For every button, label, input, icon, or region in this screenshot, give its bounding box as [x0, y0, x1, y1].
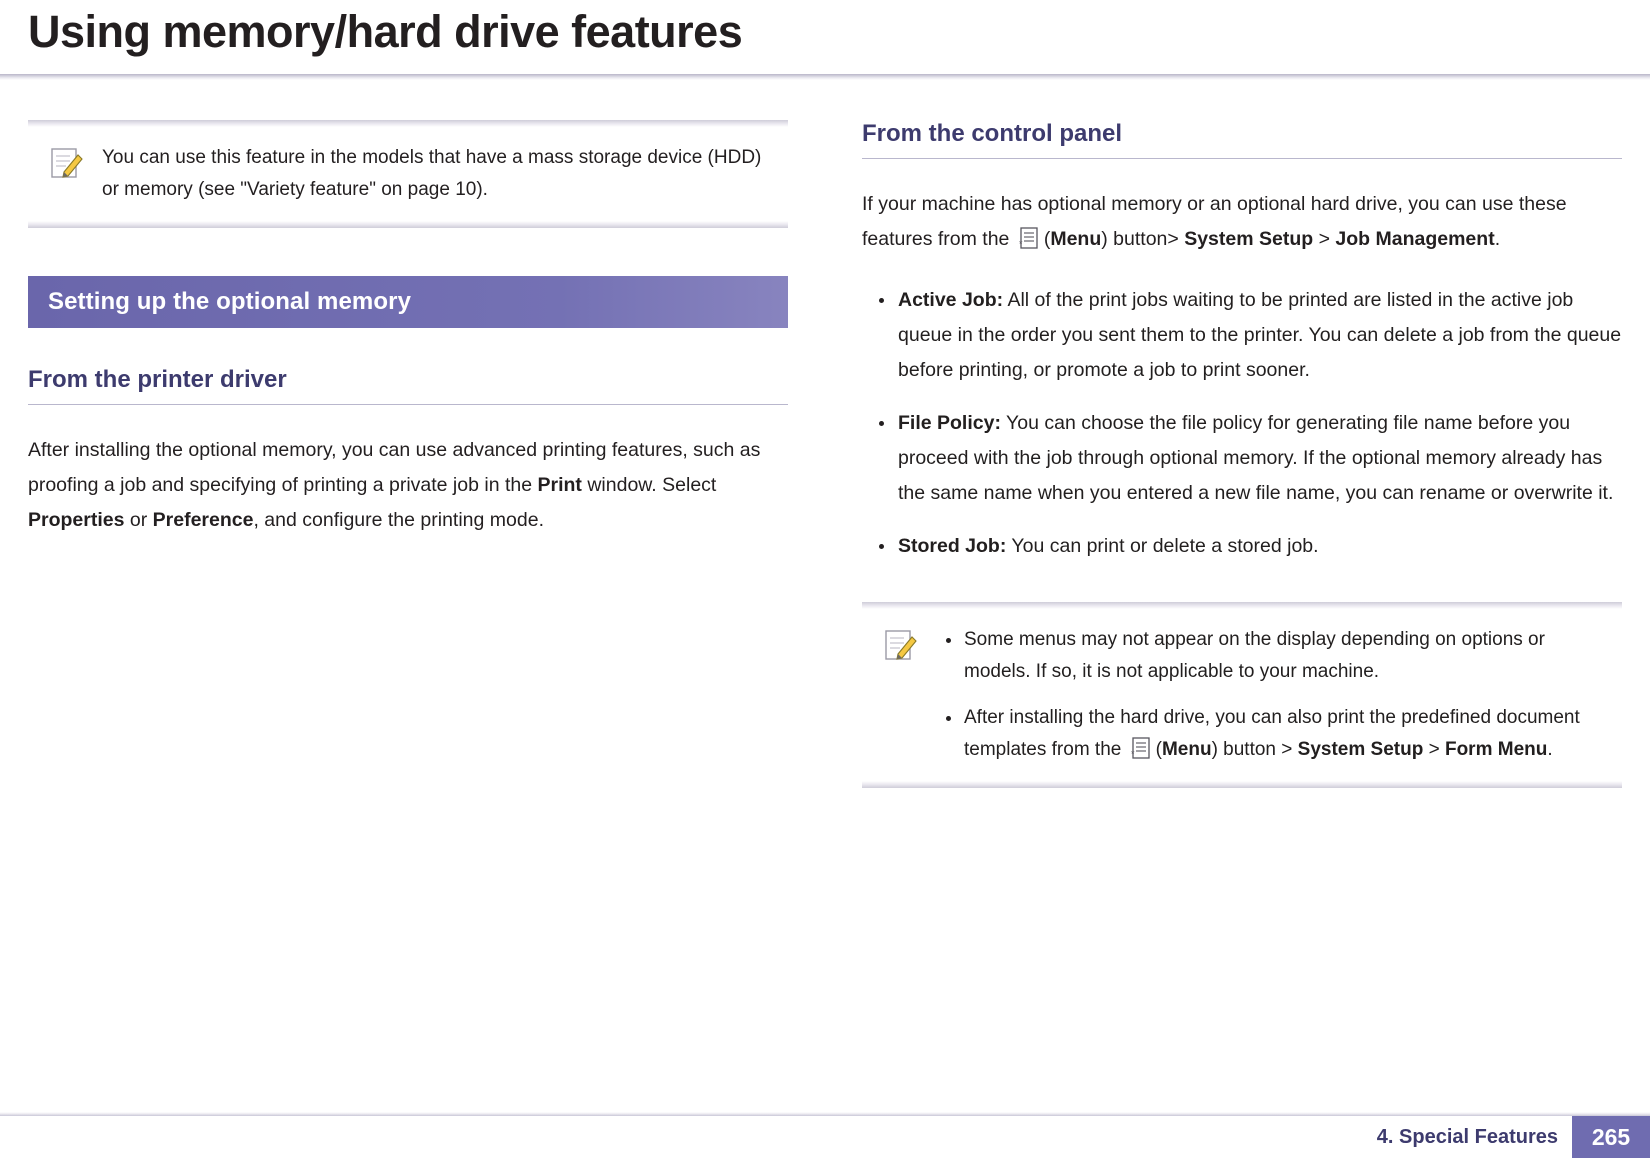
note-bullet-menus-availability: Some menus may not appear on the display…	[936, 624, 1612, 688]
right-column: From the control panel If your machine h…	[862, 120, 1622, 788]
bullet-active-job: Active Job: All of the print jobs waitin…	[862, 283, 1622, 388]
footer-chapter-label: 4. Special Features	[1377, 1126, 1558, 1149]
document-page: Using memory/hard drive features You can…	[0, 0, 1650, 1158]
paragraph-printer-driver: After installing the optional memory, yo…	[28, 433, 788, 538]
note-top-divider-2	[862, 602, 1622, 609]
note-bullet2-text-2: button >	[1218, 739, 1298, 760]
page-footer: 4. Special Features 265	[0, 1116, 1650, 1158]
bold-preference: Preference	[153, 509, 254, 531]
svg-text:*: *	[1019, 239, 1023, 249]
page-title: Using memory/hard drive features	[28, 6, 742, 58]
bullet-label-active-job: Active Job:	[898, 289, 1003, 311]
bold-system-setup: System Setup	[1184, 228, 1313, 250]
svg-text:*: *	[1131, 749, 1135, 759]
bullet-label-file-policy: File Policy:	[898, 412, 1001, 434]
note-pencil-icon	[884, 628, 918, 662]
bullet-label-stored-job: Stored Job:	[898, 535, 1006, 557]
bold-print: Print	[538, 474, 582, 496]
subheading-control-panel: From the control panel	[862, 120, 1622, 159]
note-bullet2-text-3: >	[1423, 739, 1445, 760]
bullet-text-active-job: All of the print jobs waiting to be prin…	[898, 289, 1621, 381]
title-divider	[0, 74, 1650, 80]
intro-text-4: .	[1495, 228, 1500, 250]
band-heading-label: Setting up the optional memory	[28, 288, 411, 316]
note-bottom-divider	[28, 221, 788, 228]
intro-text-3: >	[1313, 228, 1335, 250]
footer-page-number: 265	[1572, 1116, 1650, 1158]
bullet-text-stored-job: You can print or delete a stored job.	[1006, 535, 1318, 557]
note-box-menu-availability: Some menus may not appear on the display…	[862, 602, 1622, 788]
feature-bullet-list: Active Job: All of the print jobs waitin…	[862, 283, 1622, 564]
menu-button-icon: *	[1018, 226, 1041, 250]
intro-text-2: button>	[1108, 228, 1184, 250]
note-bold-system-setup: System Setup	[1298, 739, 1424, 760]
note-bold-form-menu: Form Menu	[1445, 739, 1547, 760]
paragraph-text-4: , and configure the printing mode.	[253, 509, 544, 531]
note-top-divider	[28, 120, 788, 127]
paragraph-text-3: or	[124, 509, 152, 531]
section-band-heading: Setting up the optional memory	[28, 276, 788, 328]
note-bullet-form-menu: After installing the hard drive, you can…	[936, 702, 1612, 766]
bullet-file-policy: File Policy: You can choose the file pol…	[862, 406, 1622, 511]
subheading-printer-driver: From the printer driver	[28, 366, 788, 405]
bold-menu: Menu	[1050, 228, 1101, 250]
menu-button-icon: *	[1130, 736, 1153, 760]
bold-job-management: Job Management	[1335, 228, 1494, 250]
note-box-feature-availability: You can use this feature in the models t…	[28, 120, 788, 228]
note-bold-menu: Menu	[1162, 739, 1212, 760]
note-bullet-list: Some menus may not appear on the display…	[936, 624, 1612, 766]
note-text: You can use this feature in the models t…	[102, 142, 778, 206]
bullet-stored-job: Stored Job: You can print or delete a st…	[862, 529, 1622, 564]
note-pencil-icon	[50, 146, 84, 180]
paragraph-control-panel-intro: If your machine has optional memory or a…	[862, 187, 1622, 257]
bullet-text-file-policy: You can choose the file policy for gener…	[898, 412, 1613, 504]
left-column: You can use this feature in the models t…	[28, 120, 788, 538]
paragraph-text-2: window. Select	[582, 474, 716, 496]
bold-properties: Properties	[28, 509, 124, 531]
note-bullet2-text-4: .	[1547, 739, 1552, 760]
note-bottom-divider-2	[862, 781, 1622, 788]
